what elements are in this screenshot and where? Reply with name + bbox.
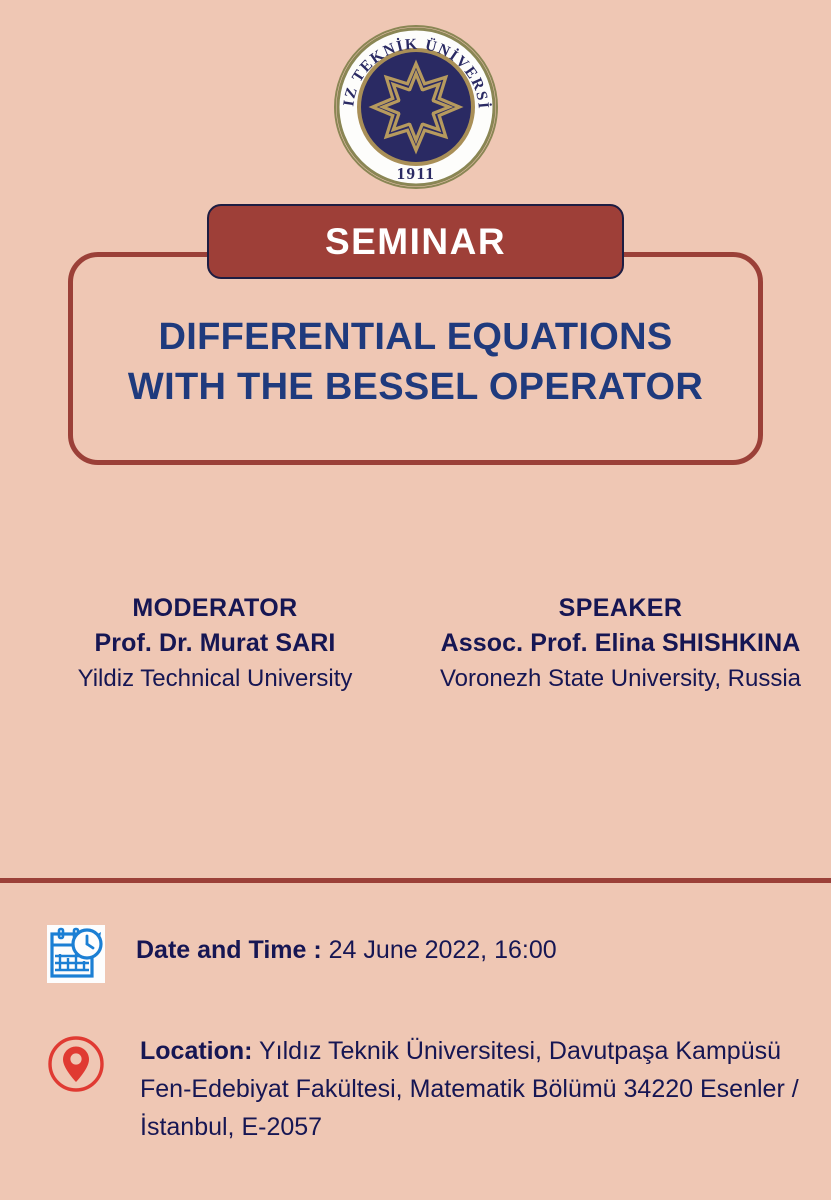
yildiz-technical-university-seal-icon: YILDIZ TEKNİK ÜNİVERSİTESİ 1911: [333, 24, 499, 190]
seminar-title-line-1: DIFFERENTIAL EQUATIONS: [68, 312, 763, 362]
speaker-affiliation: Voronezh State University, Russia: [420, 661, 821, 697]
date-and-time-text: Date and Time : 24 June 2022, 16:00: [108, 922, 557, 969]
seminar-title: DIFFERENTIAL EQUATIONS WITH THE BESSEL O…: [68, 312, 763, 412]
seminar-badge-label: SEMINAR: [325, 221, 506, 263]
speaker-block: SPEAKER Assoc. Prof. Elina SHISHKINA Vor…: [420, 592, 831, 697]
moderator-role: MODERATOR: [10, 592, 420, 625]
date-and-time-row: Date and Time : 24 June 2022, 16:00: [44, 922, 804, 986]
seminar-badge: SEMINAR: [207, 204, 624, 279]
date-and-time-value: 24 June 2022, 16:00: [329, 936, 557, 964]
calendar-clock-icon: [44, 922, 108, 986]
section-divider: [0, 878, 831, 883]
university-logo: YILDIZ TEKNİK ÜNİVERSİTESİ 1911: [333, 24, 499, 190]
seminar-title-line-2: WITH THE BESSEL OPERATOR: [68, 362, 763, 412]
people-section: MODERATOR Prof. Dr. Murat SARI Yildiz Te…: [0, 592, 831, 697]
location-text: Location: Yıldız Teknik Üniversitesi, Da…: [108, 1032, 814, 1146]
logo-container: YILDIZ TEKNİK ÜNİVERSİTESİ 1911: [0, 24, 831, 190]
speaker-role: SPEAKER: [420, 592, 821, 625]
moderator-affiliation: Yildiz Technical University: [10, 661, 420, 697]
moderator-block: MODERATOR Prof. Dr. Murat SARI Yildiz Te…: [0, 592, 420, 697]
date-and-time-label: Date and Time :: [136, 936, 322, 964]
svg-text:1911: 1911: [396, 164, 435, 183]
map-pin-icon: [44, 1032, 108, 1096]
location-label: Location:: [140, 1037, 253, 1065]
seminar-poster: YILDIZ TEKNİK ÜNİVERSİTESİ 1911 SEMINAR …: [0, 0, 831, 1200]
speaker-name: Assoc. Prof. Elina SHISHKINA: [420, 625, 821, 661]
moderator-name: Prof. Dr. Murat SARI: [10, 625, 420, 661]
location-row: Location: Yıldız Teknik Üniversitesi, Da…: [44, 1032, 814, 1146]
